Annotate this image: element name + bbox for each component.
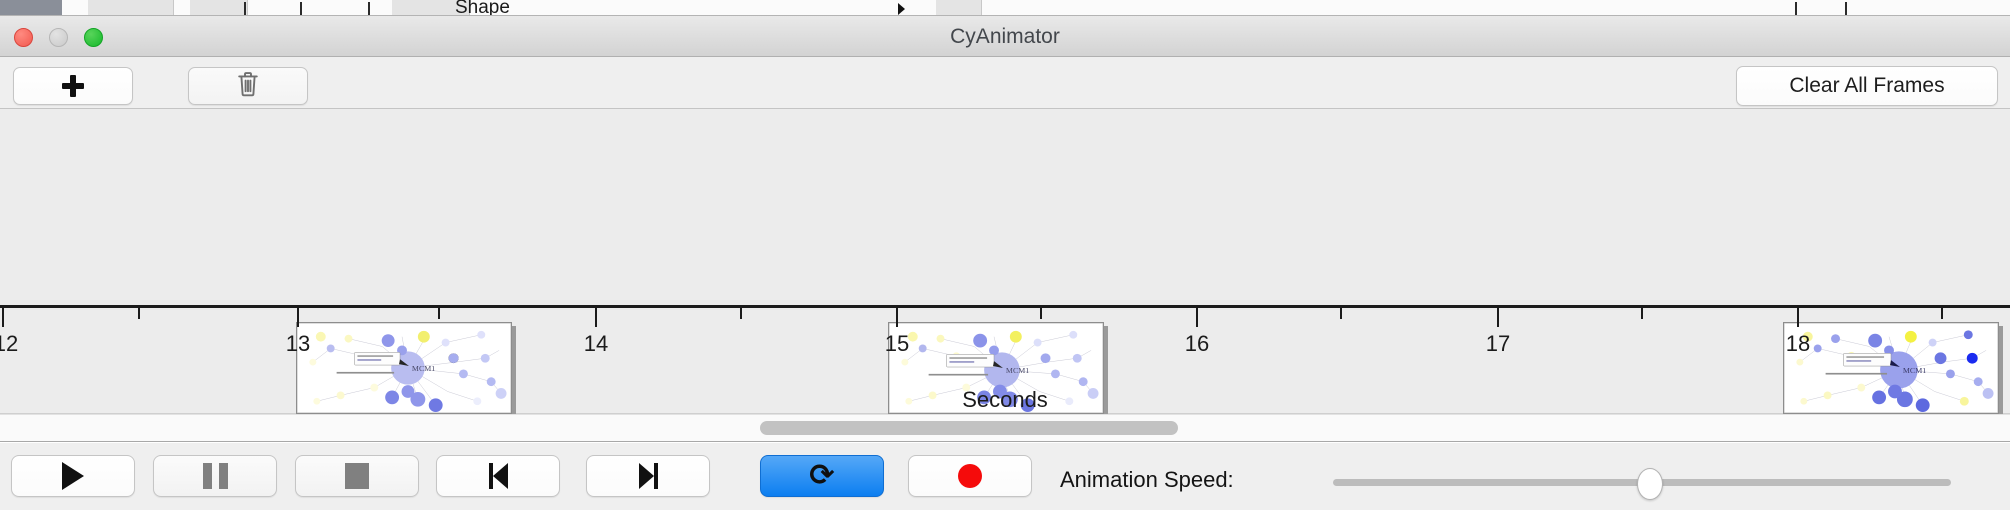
background-window-tick [300,2,302,16]
axis-tick-major [896,308,898,327]
loop-icon: ⟳ [809,461,834,491]
background-window-tick [1845,2,1847,16]
play-button[interactable] [11,455,135,497]
play-icon [62,462,84,490]
record-icon [958,464,982,488]
skip-to-end-icon [639,463,658,489]
timeline-panel[interactable]: MCM1 [0,109,2010,414]
axis-tick-label: 18 [1786,331,1810,357]
window-title: CyAnimator [0,16,2010,57]
record-button[interactable] [908,455,1032,497]
axis-tick-label: 12 [0,331,18,357]
svg-text:MCM1: MCM1 [412,364,435,373]
background-window-dark-panel [0,0,62,16]
background-window-sliver: Shape [0,0,2010,16]
clear-all-frames-button[interactable]: Clear All Frames [1736,66,1998,106]
svg-text:MCM1: MCM1 [1903,366,1926,375]
add-frame-button[interactable] [13,67,133,105]
plus-icon [62,75,84,97]
animation-speed-slider-thumb[interactable] [1637,468,1663,500]
background-window-label: Shape [455,0,510,16]
last-frame-button[interactable] [586,455,710,497]
animation-speed-label: Animation Speed: [1060,467,1234,493]
svg-text:MCM1: MCM1 [1006,366,1029,375]
pause-button[interactable] [153,455,277,497]
background-window-chip [190,0,248,16]
axis-tick-label: 17 [1486,331,1510,357]
first-frame-button[interactable] [436,455,560,497]
clear-all-frames-label: Clear All Frames [1789,74,1944,98]
axis-tick-major [297,308,299,327]
axis-tick-major [2,308,4,327]
axis-tick-label: 13 [286,331,310,357]
axis-tick-minor [438,308,440,319]
stop-button[interactable] [295,455,419,497]
axis-tick-label: 14 [584,331,608,357]
axis-tick-minor [138,308,140,319]
background-window-chip [88,0,174,16]
skip-to-start-icon [489,463,508,489]
loop-button[interactable]: ⟳ [760,455,884,497]
axis-tick-minor [1641,308,1643,319]
axis-tick-major [1797,308,1799,327]
timeline-axis [0,305,2010,308]
background-window-tick [244,2,246,16]
axis-tick-major [1497,308,1499,327]
axis-tick-minor [1040,308,1042,319]
axis-tick-major [1196,308,1198,327]
background-window-tick [1795,2,1797,16]
axis-tick-label: 16 [1185,331,1209,357]
background-window-tick [368,2,370,16]
background-window-arrow-icon [898,3,905,15]
pause-icon [203,463,228,489]
stop-icon [345,463,369,489]
frame-toolbar: Clear All Frames [0,57,2010,109]
playback-control-bar: ⟳ Animation Speed: [0,443,2010,510]
timeline-scrollbar-thumb[interactable] [760,421,1178,435]
window-titlebar: CyAnimator [0,16,2010,57]
delete-frame-button[interactable] [188,67,308,105]
axis-tick-label: 15 [885,331,909,357]
axis-tick-minor [740,308,742,319]
axis-tick-major [595,308,597,327]
axis-tick-minor [1941,308,1943,319]
axis-title: Seconds [0,387,2010,413]
axis-tick-minor [1340,308,1342,319]
background-window-chip [936,0,982,16]
trash-icon [237,71,259,102]
